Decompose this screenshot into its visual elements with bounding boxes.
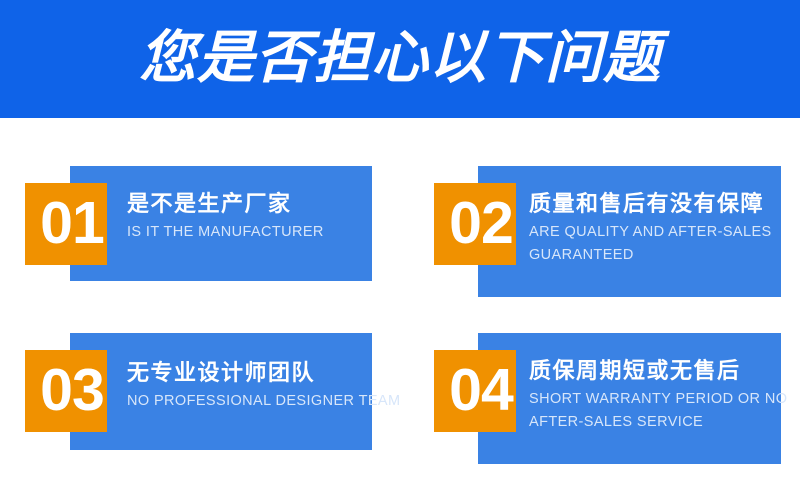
- card-title: 质量和售后有没有保障: [529, 191, 772, 216]
- card-number-label: 02: [449, 194, 513, 253]
- card-text-block: 质保周期短或无售后 SHORT WARRANTY PERIOD OR NO AF…: [529, 358, 787, 433]
- card-number-badge: 01: [25, 183, 107, 265]
- card-subtitle: IS IT THE MANUFACTURER: [127, 221, 324, 243]
- card-subtitle: SHORT WARRANTY PERIOD OR NO AFTER-SALES …: [529, 388, 787, 433]
- card-number-label: 04: [449, 361, 513, 420]
- page-title: 您是否担心以下问题: [0, 0, 800, 118]
- card-subtitle-line: SHORT WARRANTY PERIOD OR NO: [529, 388, 787, 410]
- card-text-block: 是不是生产厂家 IS IT THE MANUFACTURER: [127, 191, 324, 244]
- card-title: 质保周期短或无售后: [529, 358, 787, 383]
- card-number-label: 01: [40, 194, 104, 253]
- promo-banner-page: 您是否担心以下问题 01 是不是生产厂家 IS IT THE MANUFACTU…: [0, 0, 800, 483]
- card-subtitle-line: ARE QUALITY AND AFTER-SALES: [529, 221, 772, 243]
- card-text-block: 无专业设计师团队 NO PROFESSIONAL DESIGNER TEAM: [127, 360, 400, 413]
- card-subtitle-line: IS IT THE MANUFACTURER: [127, 221, 324, 243]
- card-number-badge: 04: [434, 350, 516, 432]
- card-subtitle: NO PROFESSIONAL DESIGNER TEAM: [127, 390, 400, 412]
- card-subtitle-line: NO PROFESSIONAL DESIGNER TEAM: [127, 390, 400, 412]
- card-subtitle-line: AFTER-SALES SERVICE: [529, 411, 787, 433]
- card-title: 无专业设计师团队: [127, 360, 400, 385]
- card-text-block: 质量和售后有没有保障 ARE QUALITY AND AFTER-SALES G…: [529, 191, 772, 266]
- card-title: 是不是生产厂家: [127, 191, 324, 216]
- card-number-badge: 03: [25, 350, 107, 432]
- card-subtitle: ARE QUALITY AND AFTER-SALES GUARANTEED: [529, 221, 772, 266]
- card-number-label: 03: [40, 361, 104, 420]
- card-number-badge: 02: [434, 183, 516, 265]
- card-subtitle-line: GUARANTEED: [529, 244, 772, 266]
